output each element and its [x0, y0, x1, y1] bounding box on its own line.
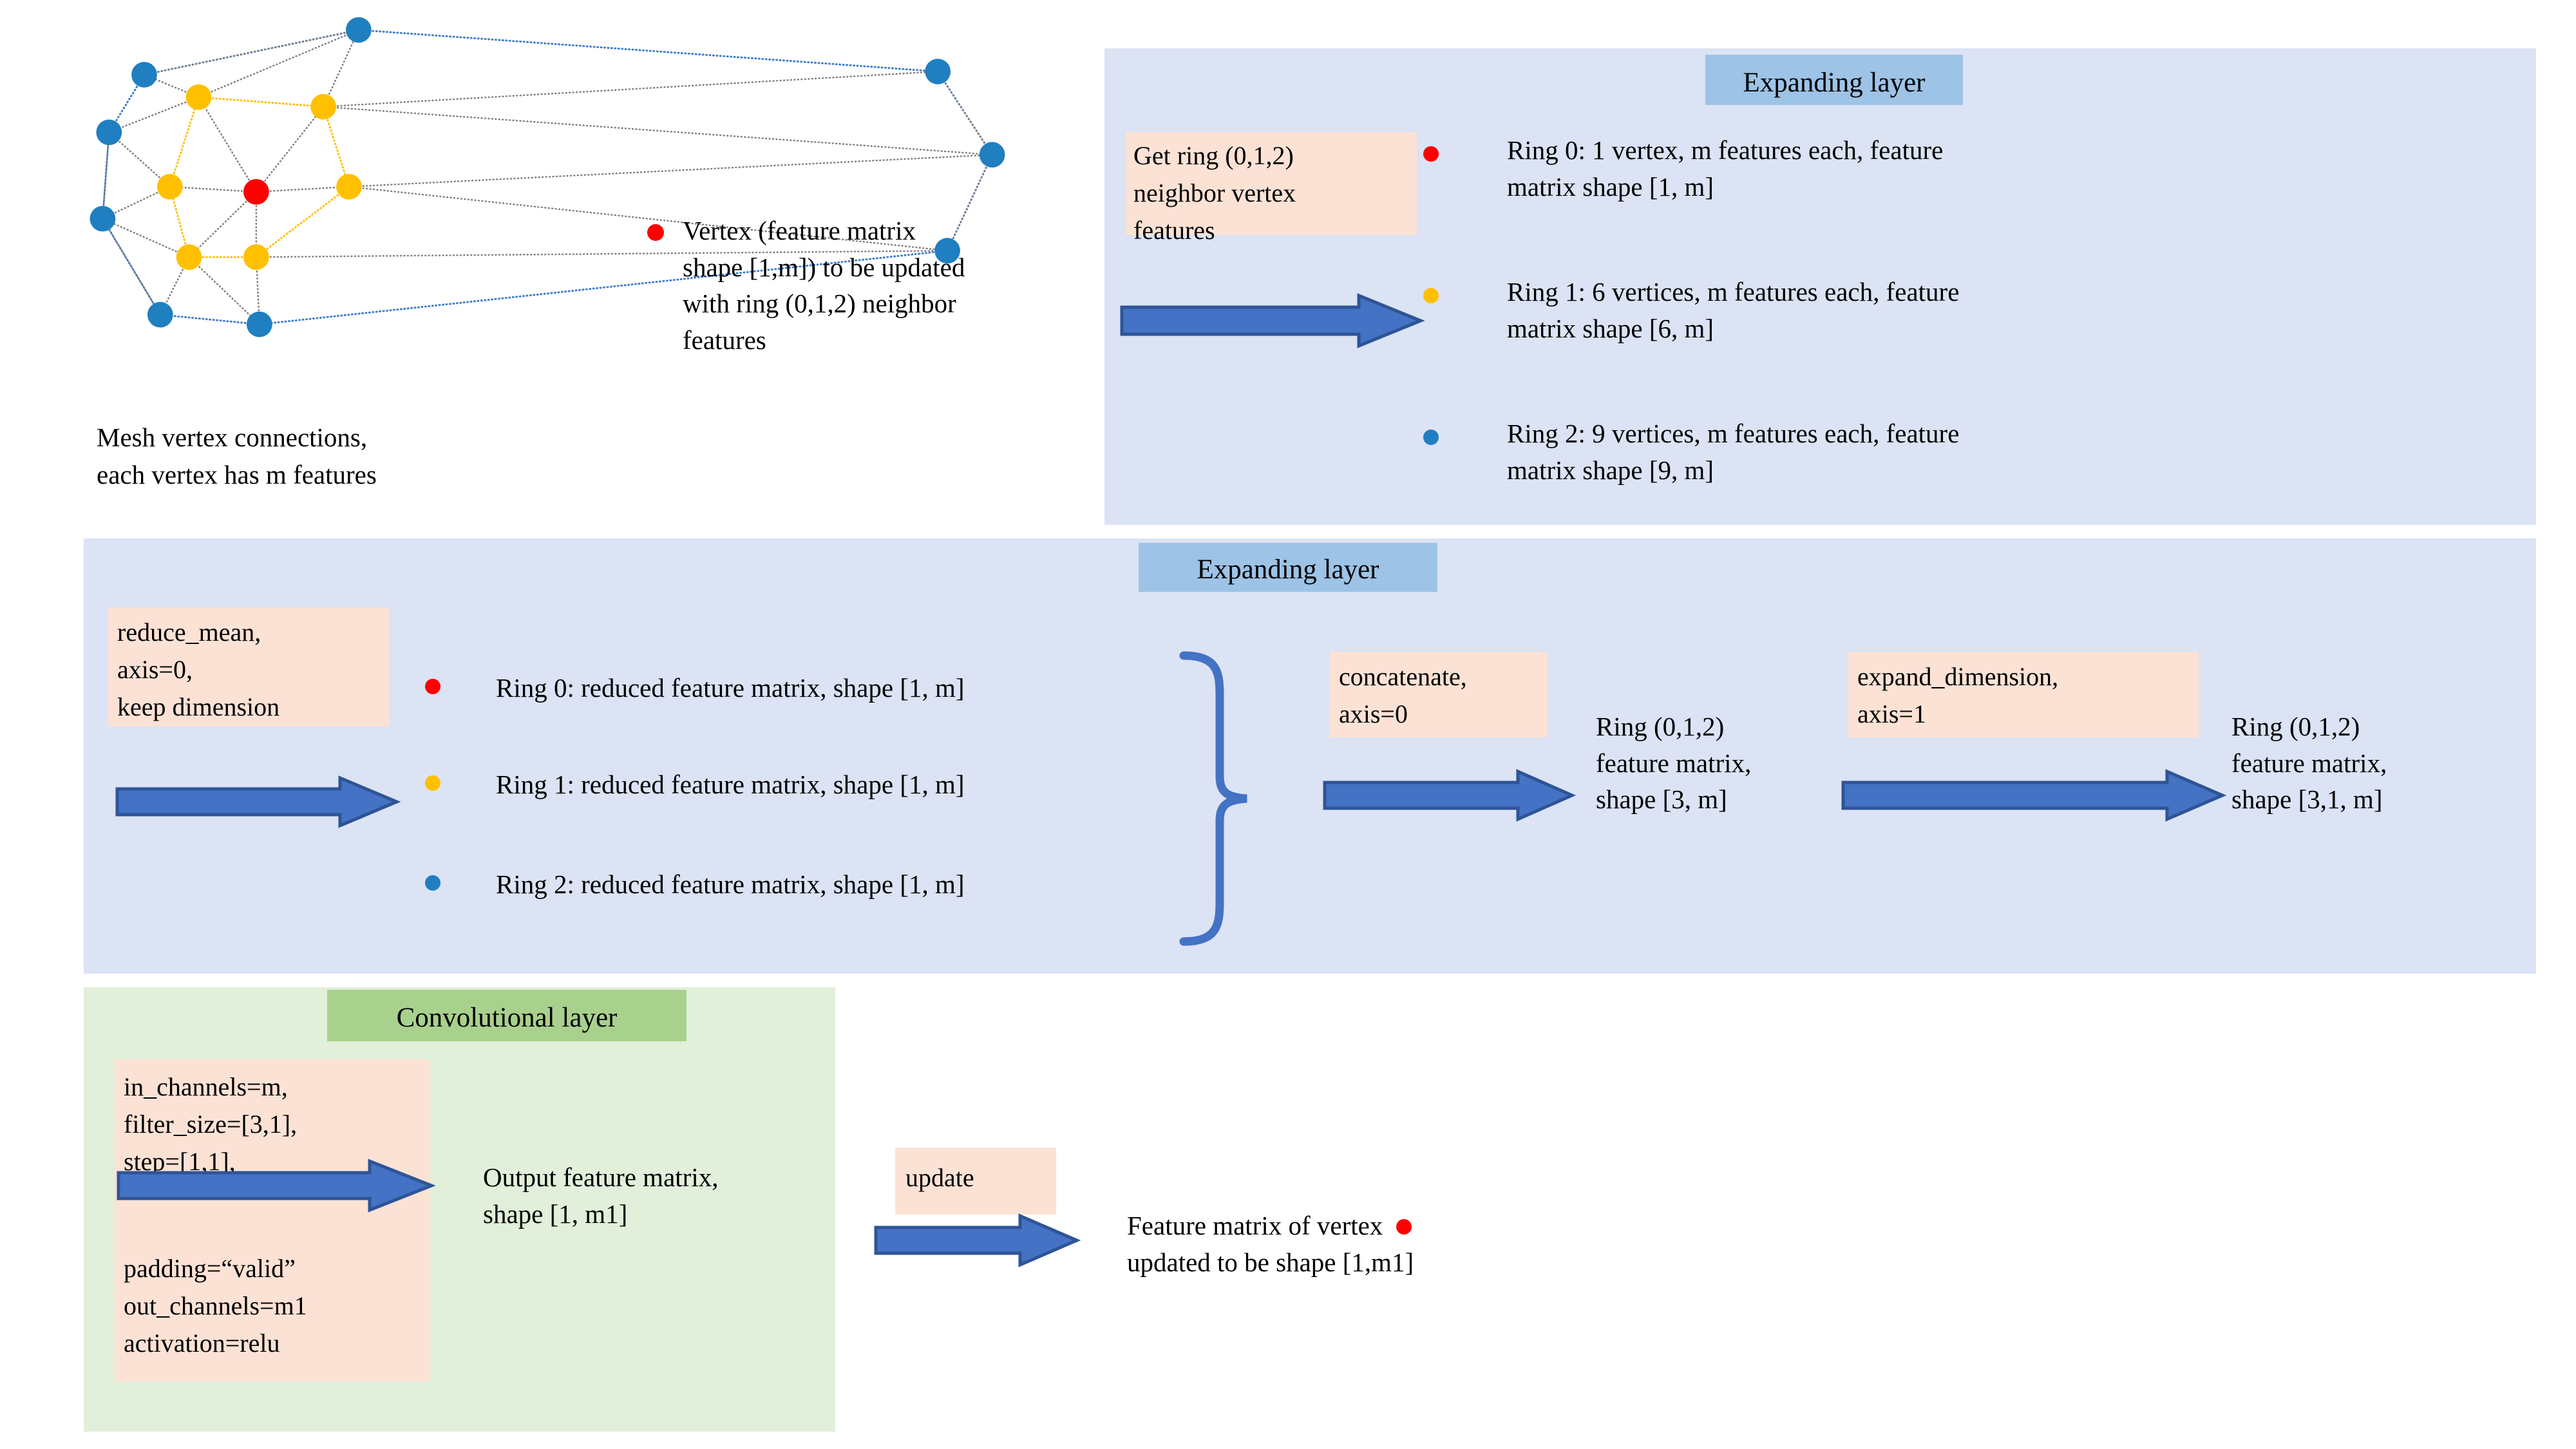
ring1-yellow-dot — [1423, 288, 1439, 303]
mesh-vertex-ring2 — [980, 142, 1005, 167]
update-op-text: update — [895, 1148, 1056, 1197]
update-result-post: updated to be shape [1,m1] — [1127, 1244, 1591, 1281]
panel2-result-3: Ring (0,1,2) feature matrix, shape [3,1,… — [2231, 708, 2508, 818]
panel2-op2-box: concatenate, axis=0 — [1330, 652, 1548, 737]
panel2-op2-text: concatenate, axis=0 — [1330, 652, 1548, 733]
mesh-vertex-ring1 — [176, 244, 202, 270]
panel1-item-1: Ring 1: 6 vertices, m features each, fea… — [1423, 274, 2132, 346]
panel1-item-0-text: Ring 0: 1 vertex, m features each, featu… — [1507, 132, 2132, 205]
ring1-yellow-dot — [425, 775, 440, 791]
panel1-op-box: Get ring (0,1,2) neighbor vertex feature… — [1126, 132, 1417, 235]
mesh-vertex-ring1 — [157, 174, 183, 200]
mesh-vertex-ring2 — [131, 62, 157, 88]
panel3-arrow — [117, 1159, 434, 1212]
legend-vertex: Vertex (feature matrix shape [1,m]) to b… — [647, 213, 1059, 358]
legend-vertex-text: Vertex (feature matrix shape [1,m]) to b… — [683, 213, 1059, 358]
panel1-tag: Expanding layer — [1705, 55, 1963, 105]
panel2-result-2: Ring (0,1,2) feature matrix, shape [3, m… — [1596, 708, 1866, 818]
ring2-blue-dot — [1423, 430, 1439, 445]
panel2-tag-label: Expanding layer — [1139, 543, 1437, 583]
panel1-item-0: Ring 0: 1 vertex, m features each, featu… — [1423, 132, 2132, 205]
update-op-box: update — [895, 1148, 1056, 1215]
panel2-item-0-text: Ring 0: reduced feature matrix, shape [1… — [496, 670, 1198, 706]
mesh-vertex-ring2 — [247, 312, 272, 337]
mesh-caption: Mesh vertex connections, each vertex has… — [97, 419, 457, 493]
grouping-brace — [1179, 650, 1256, 947]
panel3-result: Output feature matrix, shape [1, m1] — [483, 1159, 818, 1232]
panel-expanding-layer-2 — [84, 538, 2536, 974]
panel1-arrow — [1121, 293, 1423, 348]
mesh-vertex-ring1 — [310, 94, 336, 120]
mesh-vertex-ring1 — [186, 84, 212, 110]
mesh-vertex-ring1 — [336, 174, 362, 200]
mesh-vertex-ring1 — [243, 244, 269, 270]
mesh-vertex-ring2 — [346, 17, 372, 43]
update-result-pre: Feature matrix of vertex — [1127, 1211, 1383, 1240]
mesh-vertex-ring2 — [96, 120, 122, 146]
mesh-svg — [39, 0, 547, 361]
panel2-tag: Expanding layer — [1139, 543, 1437, 592]
panel2-op3-text: expand_dimension, axis=1 — [1848, 652, 2199, 733]
update-arrow — [875, 1214, 1079, 1267]
ring0-red-dot — [1423, 146, 1439, 162]
ring0-red-dot — [1396, 1219, 1412, 1235]
panel3-op-box: in_channels=m, filter_size=[3,1], step=[… — [115, 1059, 430, 1381]
panel2-op1-box: reduce_mean, axis=0, keep dimension — [108, 607, 389, 726]
panel1-tag-label: Expanding layer — [1705, 55, 1963, 97]
panel2-arrow-3 — [1842, 770, 2225, 821]
update-result: Feature matrix of vertex updated to be s… — [1127, 1207, 1591, 1280]
panel2-op1-text: reduce_mean, axis=0, keep dimension — [108, 607, 389, 726]
mesh-vertex-ring2 — [90, 206, 115, 232]
ring0-red-dot — [425, 679, 440, 694]
panel3-tag-label: Convolutional layer — [327, 990, 687, 1032]
ring0-red-dot — [647, 224, 664, 241]
panel1-op-text: Get ring (0,1,2) neighbor vertex feature… — [1126, 132, 1417, 249]
panel2-arrow-1 — [116, 776, 399, 828]
mesh-vertex-ring2 — [147, 302, 173, 328]
panel1-item-2-text: Ring 2: 9 vertices, m features each, fea… — [1507, 415, 2132, 488]
panel2-item-2: Ring 2: reduced feature matrix, shape [1… — [425, 866, 1198, 903]
panel2-item-1-text: Ring 1: reduced feature matrix, shape [1… — [496, 766, 1198, 803]
panel1-item-1-text: Ring 1: 6 vertices, m features each, fea… — [1507, 274, 2132, 346]
panel2-arrow-2 — [1323, 770, 1575, 821]
panel2-op3-box: expand_dimension, axis=1 — [1848, 652, 2199, 737]
ring2-blue-dot — [425, 875, 440, 891]
panel2-item-2-text: Ring 2: reduced feature matrix, shape [1… — [496, 866, 1198, 903]
mesh-graph — [39, 0, 547, 361]
panel1-item-2: Ring 2: 9 vertices, m features each, fea… — [1423, 415, 2132, 488]
panel2-item-0: Ring 0: reduced feature matrix, shape [1… — [425, 670, 1198, 706]
mesh-vertex-ring0 — [243, 179, 269, 205]
panel2-item-1: Ring 1: reduced feature matrix, shape [1… — [425, 766, 1198, 803]
panel3-tag: Convolutional layer — [327, 990, 687, 1041]
mesh-vertex-ring2 — [925, 59, 951, 84]
